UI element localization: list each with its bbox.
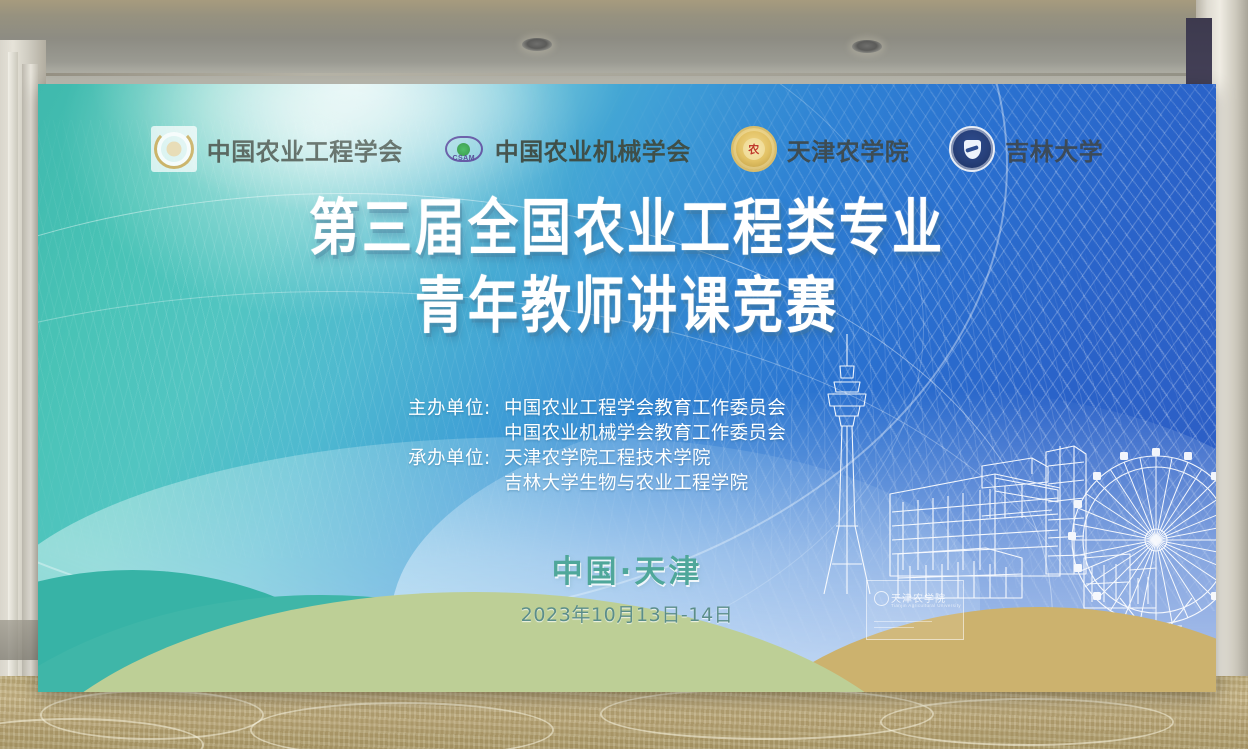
location-city: 中国·天津 (38, 546, 1216, 591)
sponsor-jlu: 吉林大学 (949, 126, 1103, 172)
ceiling-downlight (522, 38, 552, 51)
organizer-label: 主办单位: (408, 396, 504, 421)
sponsor-csam: CSAM 中国农业机械学会 (443, 128, 691, 170)
sponsor-logo-row: 中国农业工程学会 CSAM 中国农业机械学会 农 天津农学院 (38, 126, 1216, 172)
campus-sign-rule (874, 627, 914, 628)
ceiling-downlight (852, 40, 882, 53)
organizer-value: 中国农业工程学会教育工作委员会 (504, 396, 928, 421)
csae-logo-icon (151, 126, 197, 172)
carpet-pattern (600, 688, 934, 740)
conference-hall-scene: 21/3 (0, 0, 1248, 749)
ceiling-seam (0, 73, 1248, 76)
organizer-label (408, 471, 504, 496)
organizer-row: 吉林大学生物与农业工程学院 (408, 471, 928, 496)
organizer-row: 中国农业机械学会教育工作委员会 (408, 421, 928, 446)
carpet-pattern (250, 702, 554, 749)
carpet-pattern (880, 698, 1174, 746)
left-wall-shadow (0, 620, 40, 660)
organizer-label (408, 421, 504, 446)
sponsor-csae: 中国农业工程学会 (151, 126, 403, 172)
sponsor-name: 中国农业机械学会 (495, 132, 691, 167)
jlu-logo-icon (949, 126, 995, 172)
organizer-block: 主办单位: 中国农业工程学会教育工作委员会 中国农业机械学会教育工作委员会 承办… (408, 396, 928, 496)
left-door-frame-outer (8, 52, 18, 692)
organizer-value: 天津农学院工程技术学院 (504, 446, 928, 471)
sponsor-name: 中国农业工程学会 (207, 132, 403, 167)
title-line-2: 青年教师讲课竞赛 (38, 274, 1216, 337)
title-line-1: 第三届全国农业工程类专业 (38, 196, 1216, 259)
organizer-row: 主办单位: 中国农业工程学会教育工作委员会 (408, 396, 928, 421)
event-title: 第三届全国农业工程类专业 青年教师讲课竞赛 (38, 202, 1216, 332)
left-door-frame-inner (22, 64, 38, 694)
location-date: 2023年10月13日-14日 (38, 600, 1216, 627)
organizer-row: 承办单位: 天津农学院工程技术学院 (408, 446, 928, 471)
event-backdrop-board: 天津农学院 Tianjin Agricultural University 中国… (38, 84, 1216, 692)
organizer-label: 承办单位: (408, 446, 504, 471)
csam-logo-icon: CSAM (443, 128, 485, 170)
organizer-value: 中国农业机械学会教育工作委员会 (504, 421, 928, 446)
sponsor-name: 吉林大学 (1005, 132, 1103, 167)
tjau-logo-icon: 农 (731, 126, 777, 172)
organizer-value: 吉林大学生物与农业工程学院 (504, 471, 928, 496)
location-block: 中国·天津 2023年10月13日-14日 (38, 546, 1216, 627)
sponsor-tjau: 农 天津农学院 (731, 126, 910, 172)
sponsor-name: 天津农学院 (787, 132, 910, 167)
